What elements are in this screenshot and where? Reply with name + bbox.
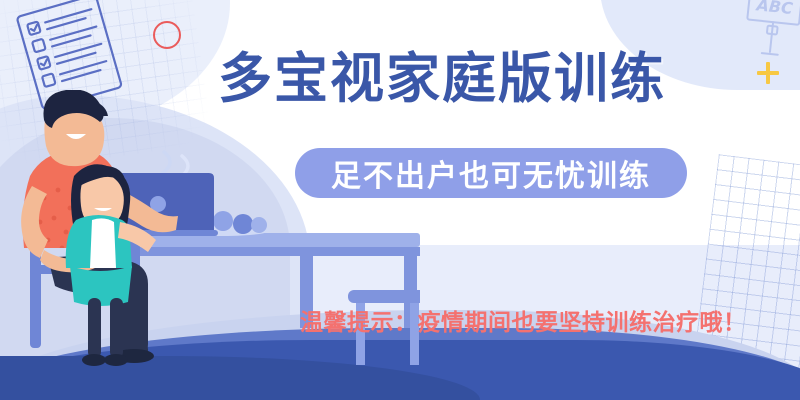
page-title: 多宝视家庭版训练 xyxy=(218,52,778,106)
circle-outline-icon xyxy=(153,21,181,49)
subtitle-pill[interactable]: 足不出户也可无忧训练 xyxy=(295,148,687,198)
subtitle-text: 足不出户也可无忧训练 xyxy=(331,151,651,195)
father-and-daughter-illustration xyxy=(0,90,420,400)
tip-text: 温馨提示：疫情期间也要坚持训练治疗哦！ xyxy=(300,303,780,337)
abc-sign-label: ABC xyxy=(754,0,794,18)
promo-banner: ABC xyxy=(0,0,800,400)
